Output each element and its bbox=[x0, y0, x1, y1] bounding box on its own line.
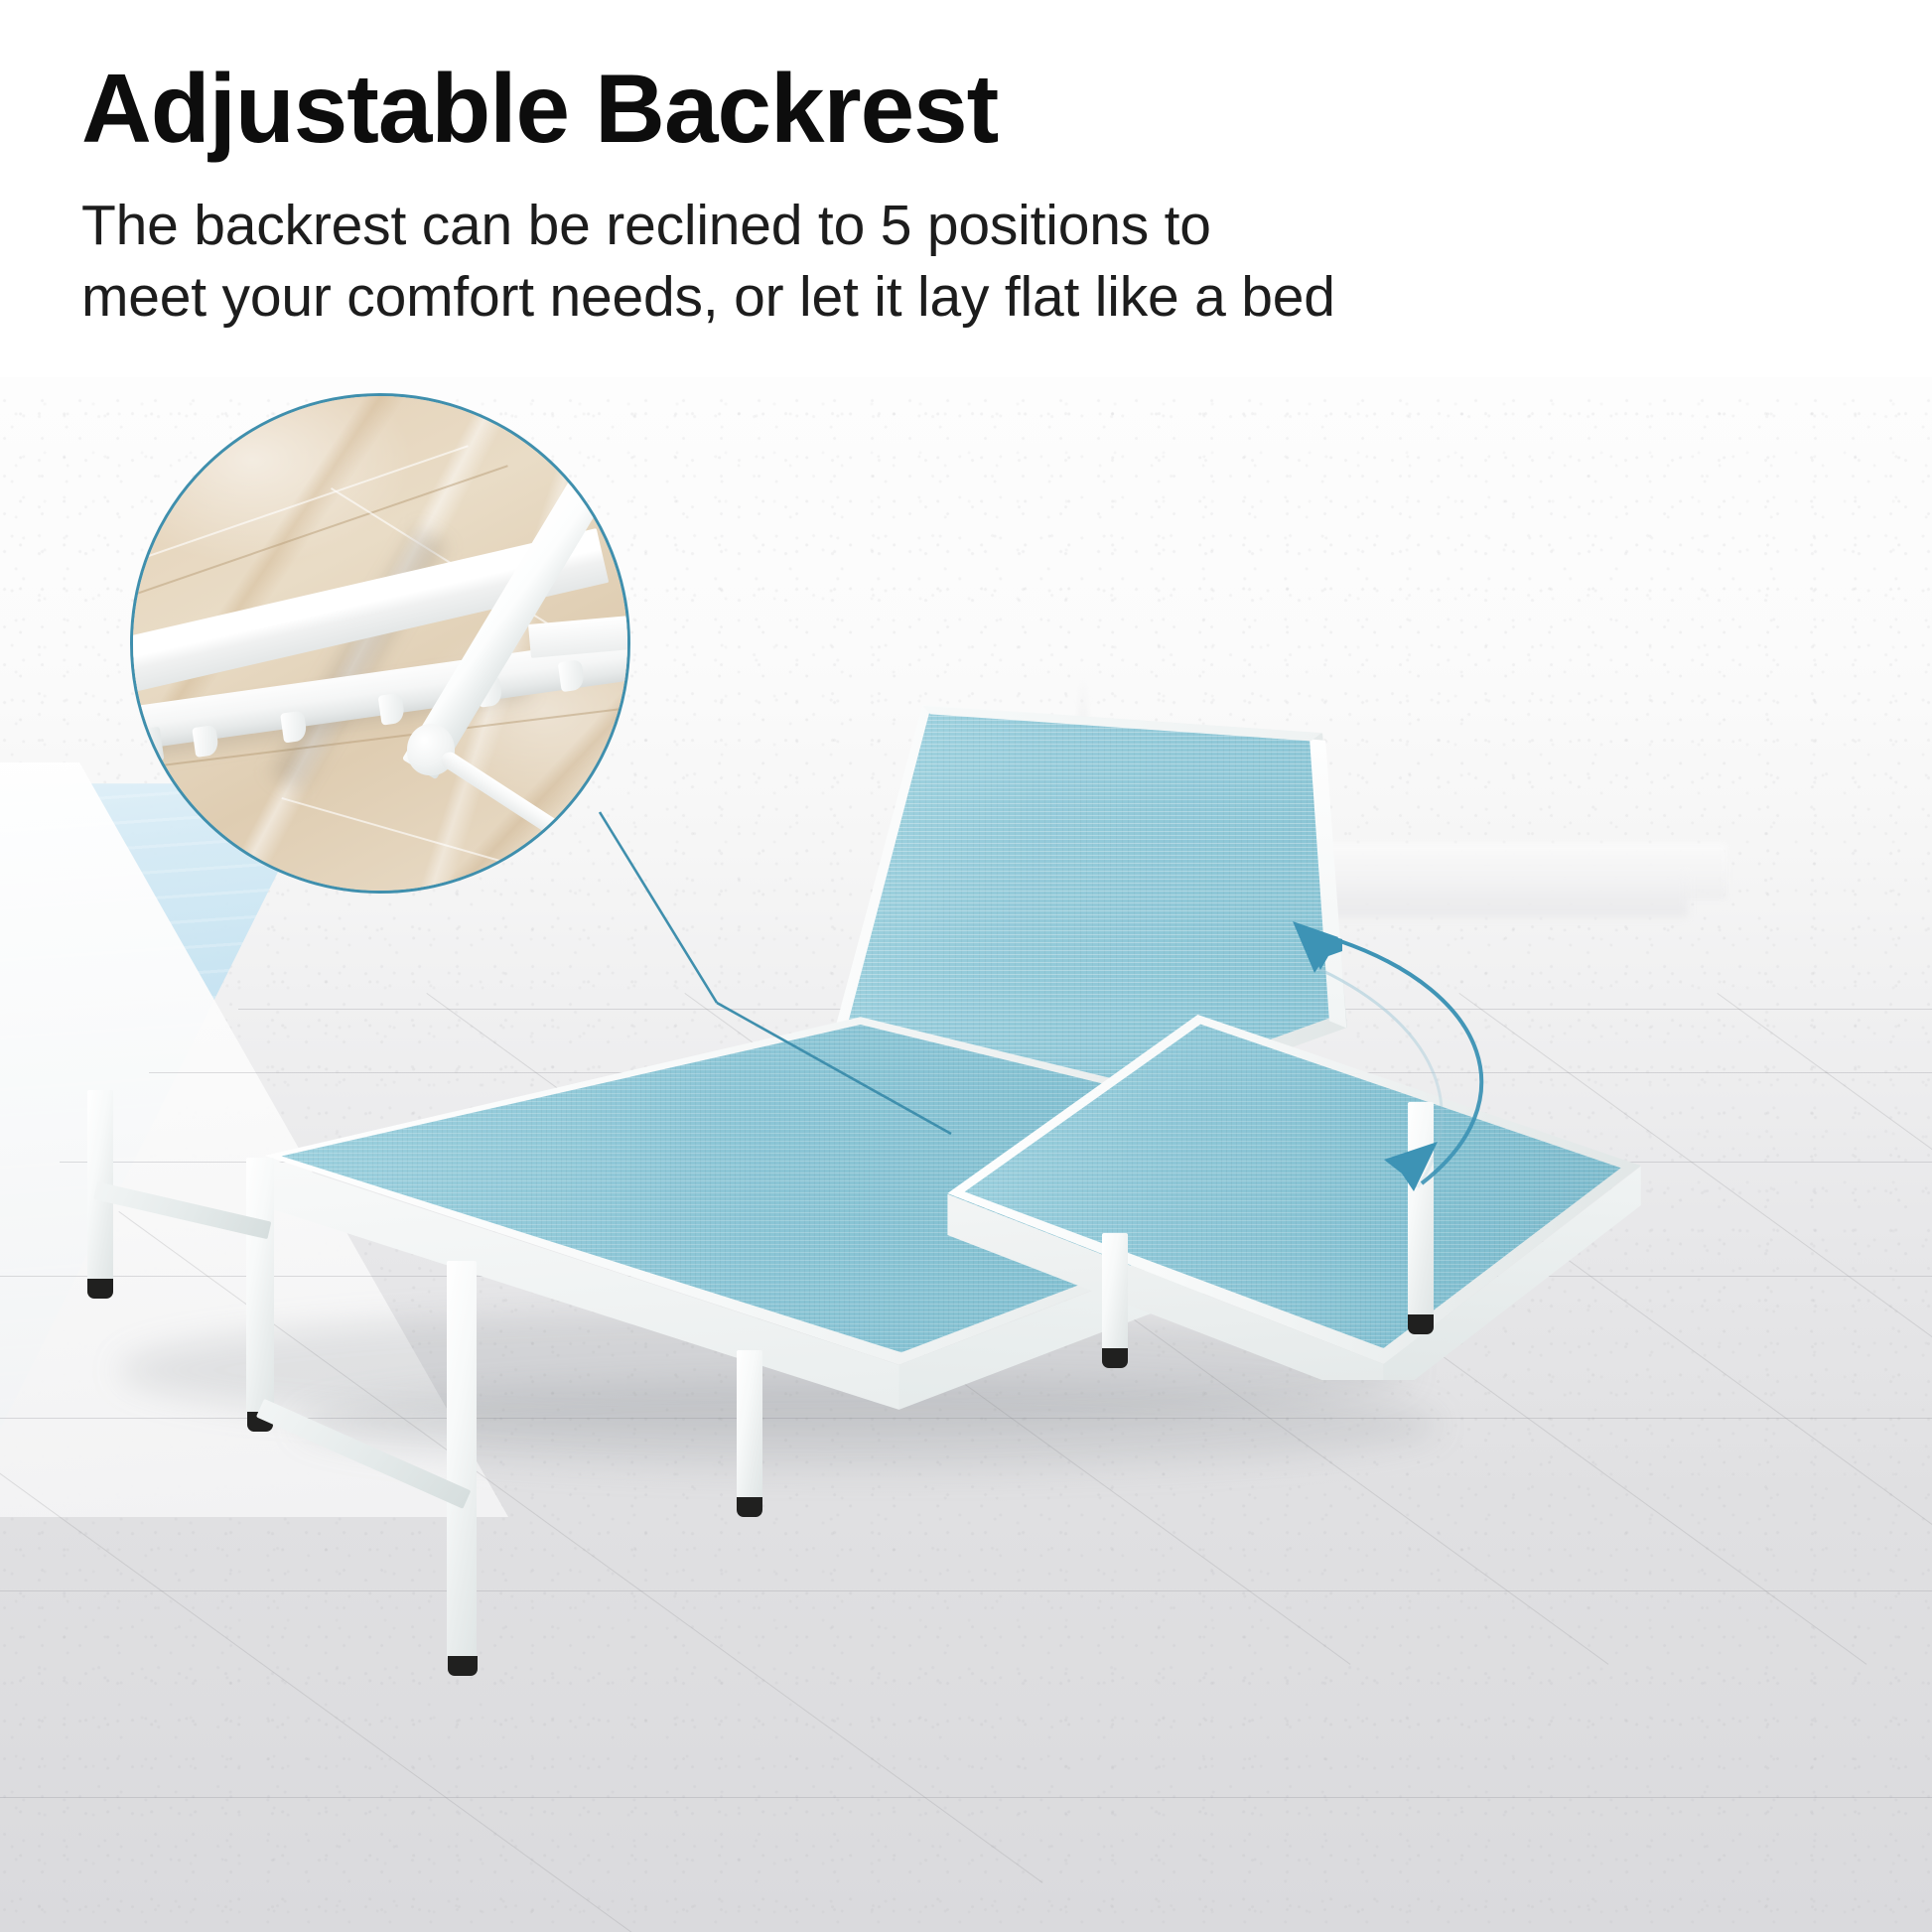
leg-center-left bbox=[447, 1261, 477, 1658]
leg-footrest-right bbox=[1408, 1102, 1434, 1316]
headline-block: Adjustable Backrest The backrest can be … bbox=[81, 60, 1868, 334]
recline-notch-5 bbox=[558, 659, 586, 692]
foot-cap-footrest-left bbox=[1102, 1348, 1128, 1368]
leg-front-left bbox=[246, 1158, 274, 1414]
foot-cap-footrest-right bbox=[1408, 1314, 1434, 1334]
foot-cap-center-left bbox=[448, 1656, 478, 1676]
page-title: Adjustable Backrest bbox=[81, 60, 1868, 157]
subtitle-line-1: The backrest can be reclined to 5 positi… bbox=[81, 191, 1501, 262]
footrest-panel-assembly bbox=[933, 983, 1648, 1380]
subtitle-line-2: meet your comfort needs, or let it lay f… bbox=[81, 262, 1501, 334]
foot-cap-mid-right bbox=[737, 1497, 762, 1517]
callout-detail-circle[interactable] bbox=[130, 393, 630, 894]
foot-cap-rear-left bbox=[87, 1279, 113, 1299]
leg-mid-right bbox=[737, 1350, 762, 1499]
callout-rail-end-cap bbox=[134, 727, 164, 763]
leg-footrest-left bbox=[1102, 1233, 1128, 1350]
product-feature-banner: Adjustable Backrest The backrest can be … bbox=[0, 0, 1932, 1932]
subtitle: The backrest can be reclined to 5 positi… bbox=[81, 191, 1501, 334]
